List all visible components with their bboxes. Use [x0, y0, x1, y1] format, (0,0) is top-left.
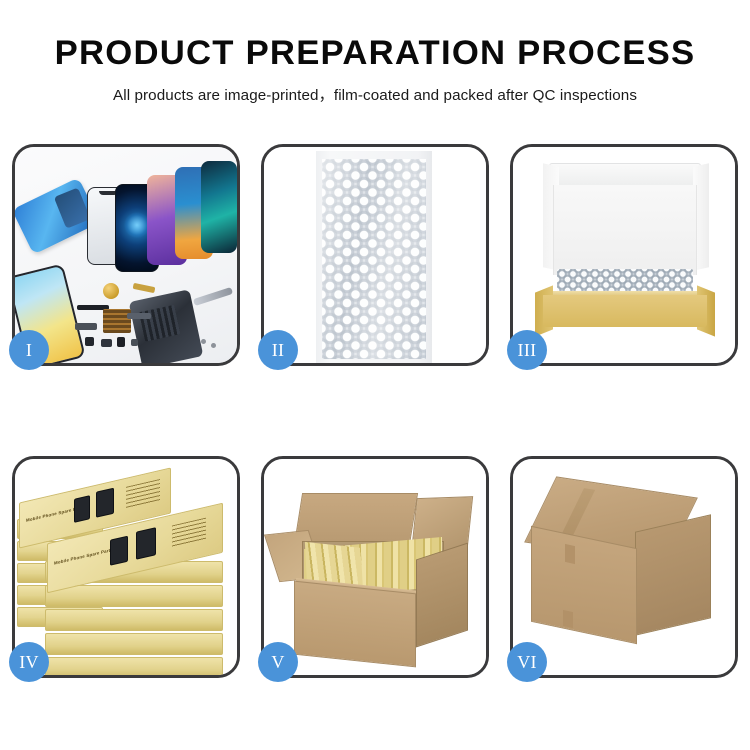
process-step-panel-1[interactable]: I [12, 144, 240, 366]
sealed-carton-seam-bottom [563, 610, 573, 628]
part-flex-cable-3-icon [127, 313, 151, 319]
step-badge-5: V [258, 642, 298, 682]
stacked-box-r5 [45, 657, 223, 675]
box-phone-image-front-1 [110, 536, 128, 566]
step-3-illustration [513, 147, 735, 363]
part-screw-1-icon [201, 339, 206, 344]
step-1-illustration [15, 147, 237, 363]
process-step-panel-3[interactable]: III [510, 144, 738, 366]
process-step-panel-2[interactable]: II [261, 144, 489, 366]
part-chip-2-icon [101, 339, 112, 347]
step-badge-4: IV [9, 642, 49, 682]
inner-box-front-face [543, 295, 707, 327]
box-spec-lines-rear [126, 479, 160, 509]
step-badge-6: VI [507, 642, 547, 682]
box-spec-lines-front [172, 518, 206, 548]
part-flex-cable-2-icon [133, 283, 156, 293]
step-4-illustration: Mobile Phone Spare Parts Mobile Phone Sp… [15, 459, 237, 675]
sealed-carton-right-face [635, 514, 711, 636]
phone-motherboard-icon [129, 289, 204, 363]
box-label-front: Mobile Phone Spare Parts [54, 547, 113, 566]
process-step-panel-6[interactable]: VI [510, 456, 738, 678]
bubble-wrap-sheen [322, 159, 426, 359]
part-chip-1-icon [85, 337, 94, 346]
step-6-illustration [513, 459, 735, 675]
step-5-illustration [264, 459, 486, 675]
step-badge-1: I [9, 330, 49, 370]
box-phone-image-front-2 [136, 527, 156, 560]
process-steps-grid: I II III [12, 144, 738, 678]
stacked-box-r2 [45, 585, 223, 607]
part-tweezers-icon [193, 287, 233, 306]
box-stack: Mobile Phone Spare Parts Mobile Phone Sp… [15, 459, 237, 675]
carton-right-face [416, 543, 468, 648]
part-vibrator-icon [103, 283, 119, 299]
phone-teal-display-icon [201, 161, 237, 253]
inner-box-interior [553, 185, 697, 275]
part-flex-cable-1-icon [75, 323, 97, 330]
stacked-box-r4 [45, 633, 223, 655]
carton-back-flap [294, 493, 418, 545]
carton-front-face [294, 581, 416, 668]
step-badge-2: II [258, 330, 298, 370]
process-step-panel-4[interactable]: Mobile Phone Spare Parts Mobile Phone Sp… [12, 456, 240, 678]
sealed-carton-seam-top [565, 544, 575, 564]
page-title: PRODUCT PREPARATION PROCESS [0, 36, 750, 70]
box-phone-image-rear-2 [96, 488, 114, 518]
page-header: PRODUCT PREPARATION PROCESS All products… [0, 0, 750, 105]
part-chip-4-icon [131, 339, 138, 346]
process-step-panel-5[interactable]: V [261, 456, 489, 678]
stacked-box-r3 [45, 609, 223, 631]
part-chip-3-icon [117, 337, 125, 347]
part-screw-2-icon [211, 343, 216, 348]
step-badge-3: III [507, 330, 547, 370]
box-phone-image-rear-1 [74, 495, 90, 523]
page-subtitle: All products are image-printed，film-coat… [0, 83, 750, 105]
step-2-illustration [264, 147, 486, 363]
